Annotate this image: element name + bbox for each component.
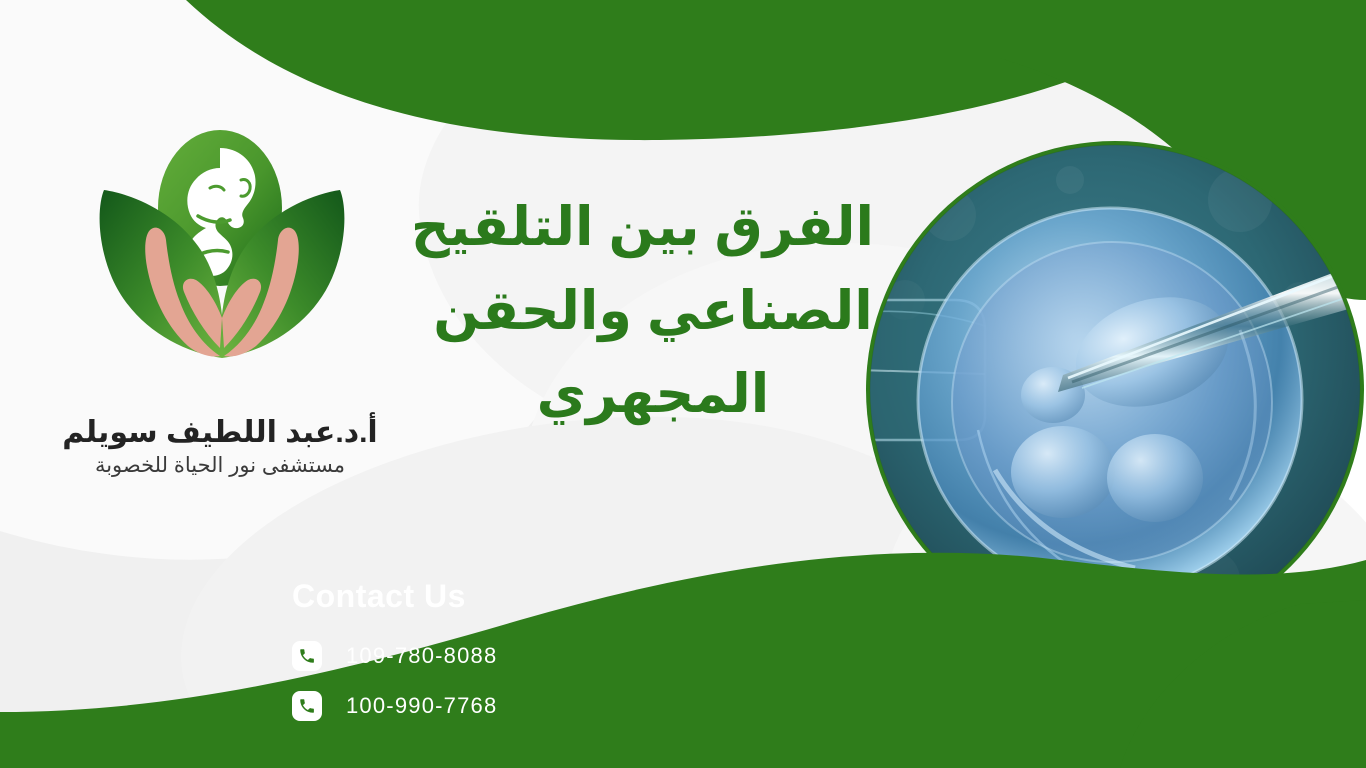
contact-section: Contact Us 109-780-8088 100-990-7768	[292, 578, 652, 741]
page-title: الفرق بين التلقيح الصناعي والحقن المجهري	[432, 186, 874, 437]
logo-clinic-name: مستشفى نور الحياة للخصوبة	[34, 453, 406, 478]
contact-phone-number[interactable]: 109-780-8088	[346, 643, 497, 669]
phone-icon	[292, 641, 322, 671]
contact-row-1[interactable]: 109-780-8088	[292, 641, 652, 671]
headline-line-3: المجهري	[432, 353, 874, 437]
logo-doctor-name: أ.د.عبد اللطيف سويلم	[34, 416, 406, 451]
contact-row-2[interactable]: 100-990-7768	[292, 691, 652, 721]
promotional-banner: أ.د.عبد اللطيف سويلم مستشفى نور الحياة ل…	[0, 0, 1366, 768]
contact-heading: Contact Us	[292, 578, 652, 615]
headline-line-1: الفرق بين التلقيح	[432, 186, 874, 270]
contact-phone-number[interactable]: 100-990-7768	[346, 693, 497, 719]
phone-icon	[292, 691, 322, 721]
embryo-in-hands-leaves-logo-icon	[70, 112, 370, 412]
brand-logo: أ.د.عبد اللطيف سويلم مستشفى نور الحياة ل…	[34, 112, 406, 478]
headline-line-2: الصناعي والحقن	[432, 270, 874, 354]
